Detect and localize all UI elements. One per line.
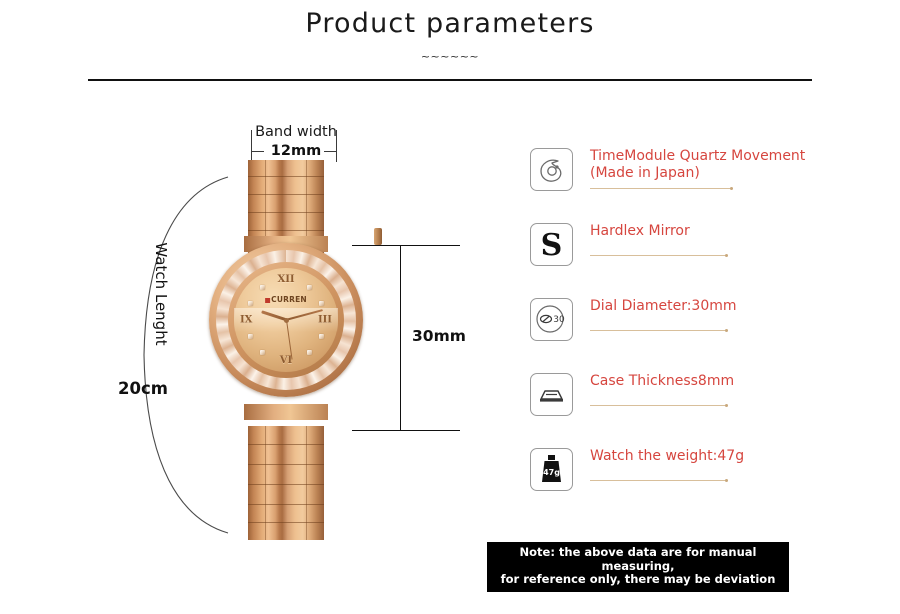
feature-text-dial-diameter: Dial Diameter:30mm <box>590 298 880 315</box>
feature-item-movement: TimeModule Quartz Movement (Made in Japa… <box>530 142 890 217</box>
feature-item-mirror: S Hardlex Mirror <box>530 217 890 292</box>
brand-mark-icon <box>265 298 270 303</box>
svg-text:47g: 47g <box>543 468 560 477</box>
feature-item-dial-diameter: 30 Dial Diameter:30mm <box>530 292 890 367</box>
letter-s-icon: S <box>530 223 573 266</box>
feature-text-mirror: Hardlex Mirror <box>590 223 880 240</box>
svg-text:30: 30 <box>553 315 565 325</box>
feature-line1: Watch the weight:47g <box>590 448 744 464</box>
feature-line1: Hardlex Mirror <box>590 223 690 239</box>
watch-movement-icon <box>530 148 573 191</box>
brand-logo: CURREN <box>265 295 307 304</box>
feature-underline <box>590 330 725 331</box>
feature-underline <box>590 188 730 189</box>
numeral-xii: XII <box>277 274 294 285</box>
feature-underline <box>590 480 725 481</box>
disclaimer-line2: for reference only, there may be deviati… <box>493 573 783 587</box>
bracelet-lower <box>248 426 324 540</box>
feature-item-weight: 47g Watch the weight:47g <box>530 442 890 517</box>
numeral-iii: III <box>318 315 332 326</box>
brand-text: CURREN <box>271 295 307 304</box>
feature-underline <box>590 405 725 406</box>
band-width-label: Band width <box>246 124 346 140</box>
feature-text-movement: TimeModule Quartz Movement (Made in Japa… <box>590 148 880 182</box>
band-width-tick-right <box>336 130 337 162</box>
band-width-tick-left <box>251 130 252 162</box>
feature-line1: Dial Diameter:30mm <box>590 298 737 314</box>
feature-item-case-thickness: Case Thickness8mm <box>530 367 890 442</box>
lug-lower <box>244 404 328 420</box>
feature-text-case-thickness: Case Thickness8mm <box>590 373 880 390</box>
watch-image: XII III VI IX CURREN <box>196 160 376 540</box>
feature-underline <box>590 255 725 256</box>
watch-diagram: Band width 12mm Watch Lenght 20cm 30mm <box>0 0 500 614</box>
feature-line1: TimeModule Quartz Movement <box>590 148 805 164</box>
feature-line2: (Made in Japan) <box>590 165 880 182</box>
hand-cap <box>284 318 289 323</box>
numeral-ix: IX <box>240 315 252 326</box>
dial-diameter-icon: 30 <box>530 298 573 341</box>
disclaimer-line1: Note: the above data are for manual meas… <box>520 545 757 573</box>
product-parameters-page: Product parameters ~~~~~~ Band width 12m… <box>0 0 900 614</box>
feature-text-weight: Watch the weight:47g <box>590 448 880 465</box>
dial-dimension-line-vertical <box>400 245 401 431</box>
feature-list: TimeModule Quartz Movement (Made in Japa… <box>530 142 890 517</box>
svg-text:S: S <box>541 228 563 263</box>
band-width-arrow-right <box>324 151 336 152</box>
watch-crown <box>374 228 382 245</box>
case-thickness-icon <box>530 373 573 416</box>
bracelet-links-lower <box>248 426 324 540</box>
weight-icon: 47g <box>530 448 573 491</box>
watch-length-value: 20cm <box>118 379 168 398</box>
watch-case: XII III VI IX CURREN <box>209 243 363 397</box>
feature-line1: Case Thickness8mm <box>590 373 734 389</box>
disclaimer-banner: Note: the above data are for manual meas… <box>487 542 789 592</box>
dial-dimension-value: 30mm <box>412 327 466 345</box>
watch-length-label: Watch Lenght <box>152 229 170 359</box>
watch-dial: XII III VI IX CURREN <box>234 268 338 372</box>
band-width-arrow-left <box>252 151 264 152</box>
